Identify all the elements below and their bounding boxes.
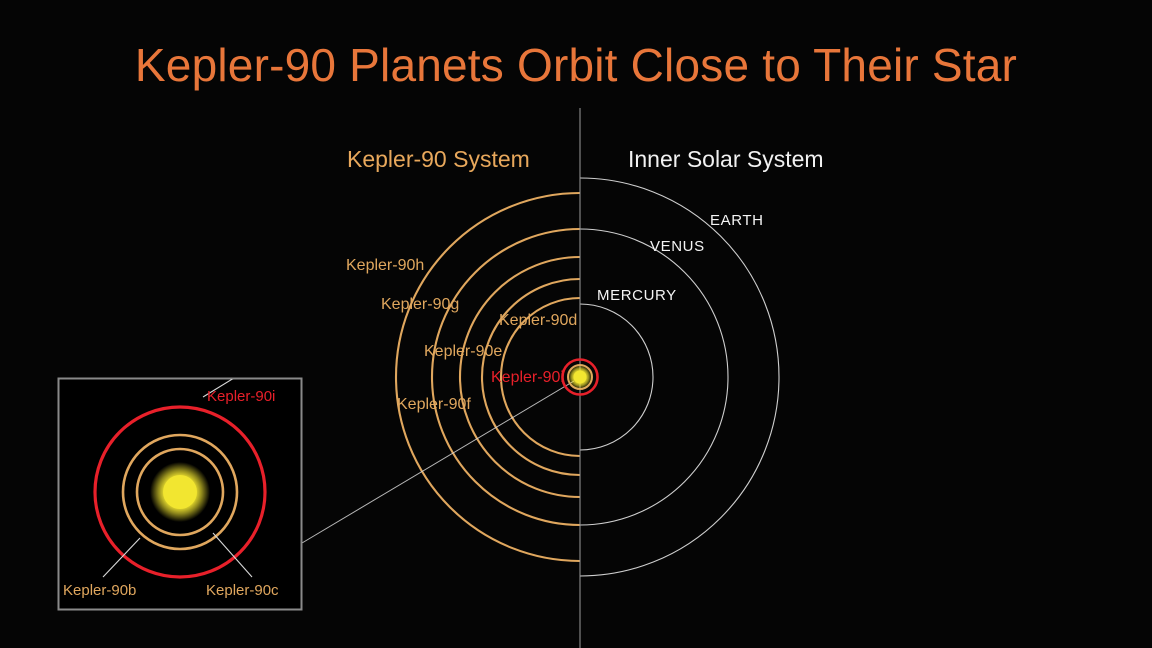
label-kepler-90d: Kepler-90d bbox=[499, 312, 577, 330]
label-kepler-90h: Kepler-90h bbox=[346, 257, 424, 275]
inset-label-kepler-90b: Kepler-90b bbox=[63, 582, 136, 599]
label-kepler-90f: Kepler-90f bbox=[397, 396, 471, 414]
star-kepler-90-main bbox=[574, 371, 587, 384]
inset-label-kepler-90i: Kepler-90i bbox=[207, 388, 275, 405]
label-kepler-90e: Kepler-90e bbox=[424, 343, 502, 361]
inset-star-kepler-90 bbox=[163, 475, 197, 509]
label-mercury: MERCURY bbox=[597, 287, 677, 304]
page-title: Kepler-90 Planets Orbit Close to Their S… bbox=[0, 38, 1152, 92]
infographic-canvas: Kepler-90 Planets Orbit Close to Their S… bbox=[0, 0, 1152, 648]
inset-label-kepler-90c: Kepler-90c bbox=[206, 582, 279, 599]
label-kepler-90g: Kepler-90g bbox=[381, 296, 459, 314]
label-kepler-90i: Kepler-90i bbox=[491, 369, 564, 387]
panel-header-solarsystem: Inner Solar System bbox=[628, 146, 824, 173]
label-venus: VENUS bbox=[650, 238, 705, 255]
panel-header-kepler90: Kepler-90 System bbox=[347, 146, 530, 173]
label-earth: EARTH bbox=[710, 212, 764, 229]
